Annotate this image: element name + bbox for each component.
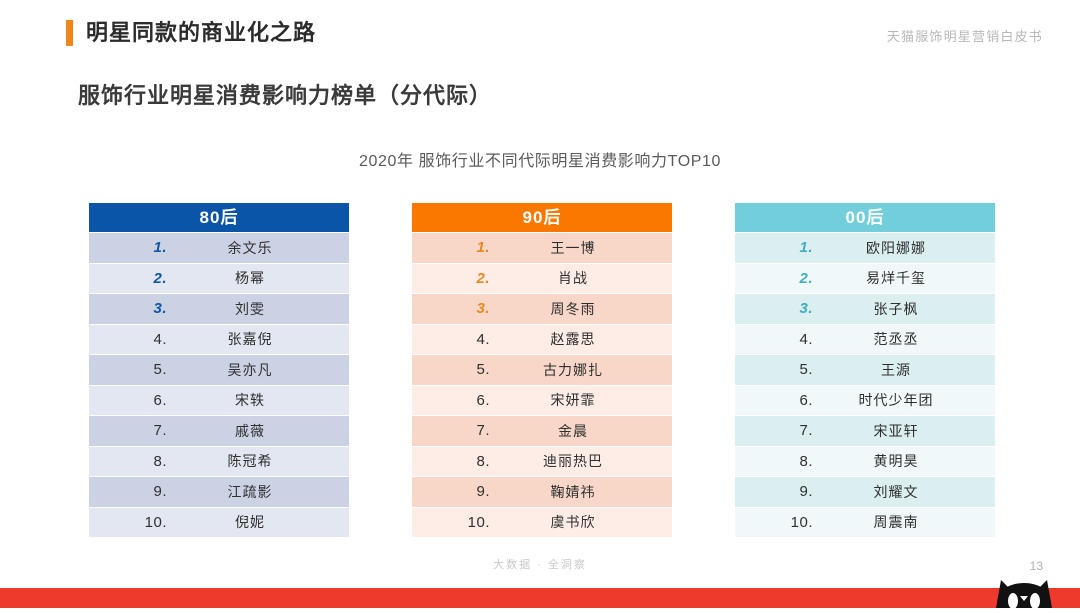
rank-number: 3.	[412, 300, 496, 317]
rank-table-header: 90后	[412, 203, 672, 232]
table-row: 3.刘雯	[89, 294, 349, 324]
rank-number: 3.	[735, 300, 819, 317]
celebrity-name: 欧阳娜娜	[819, 238, 995, 258]
rank-number: 7.	[735, 422, 819, 439]
rank-number: 4.	[735, 331, 819, 348]
table-row: 6.宋妍霏	[412, 386, 672, 416]
rank-table-header: 80后	[89, 203, 349, 232]
celebrity-name: 江疏影	[173, 482, 349, 502]
rank-number: 9.	[412, 483, 496, 500]
table-row: 2.肖战	[412, 264, 672, 294]
celebrity-name: 张子枫	[819, 299, 995, 319]
bottom-red-bar	[0, 588, 1080, 608]
table-row: 9.鞠婧祎	[412, 477, 672, 507]
rank-number: 5.	[735, 361, 819, 378]
celebrity-name: 陈冠希	[173, 451, 349, 471]
rank-number: 10.	[89, 514, 173, 531]
table-row: 9.江疏影	[89, 477, 349, 507]
celebrity-name: 余文乐	[173, 238, 349, 258]
rank-number: 5.	[412, 361, 496, 378]
celebrity-name: 王源	[819, 360, 995, 380]
tmall-cat-logo-icon	[988, 566, 1060, 608]
chart-caption: 2020年 服饰行业不同代际明星消费影响力TOP10	[0, 147, 1080, 171]
table-row: 5.吴亦凡	[89, 355, 349, 385]
rank-number: 2.	[89, 270, 173, 287]
rank-table-body: 1.王一博2.肖战3.周冬雨4.赵露思5.古力娜扎6.宋妍霏7.金晨8.迪丽热巴…	[412, 233, 672, 537]
celebrity-name: 肖战	[496, 268, 672, 288]
brand-watermark: 天猫服饰明星营销白皮书	[887, 26, 1043, 45]
table-row: 10.虞书欣	[412, 508, 672, 538]
celebrity-name: 迪丽热巴	[496, 451, 672, 471]
celebrity-name: 周冬雨	[496, 299, 672, 319]
table-row: 7.金晨	[412, 416, 672, 446]
rank-number: 10.	[412, 514, 496, 531]
table-row: 1.王一博	[412, 233, 672, 263]
rank-number: 8.	[412, 453, 496, 470]
celebrity-name: 刘雯	[173, 299, 349, 319]
rank-number: 10.	[735, 514, 819, 531]
table-row: 10.周震南	[735, 508, 995, 538]
rank-number: 2.	[412, 270, 496, 287]
celebrity-name: 易烊千玺	[819, 268, 995, 288]
rank-number: 1.	[412, 239, 496, 256]
celebrity-name: 杨幂	[173, 268, 349, 288]
rank-number: 7.	[89, 422, 173, 439]
table-row: 6.时代少年团	[735, 386, 995, 416]
celebrity-name: 宋亚轩	[819, 421, 995, 441]
rank-table-body: 1.欧阳娜娜2.易烊千玺3.张子枫4.范丞丞5.王源6.时代少年团7.宋亚轩8.…	[735, 233, 995, 537]
rank-number: 1.	[735, 239, 819, 256]
rank-number: 9.	[735, 483, 819, 500]
celebrity-name: 时代少年团	[819, 390, 995, 410]
section-subtitle: 服饰行业明星消费影响力榜单（分代际）	[78, 78, 492, 110]
table-row: 10.倪妮	[89, 508, 349, 538]
title-accent-bar-icon	[66, 20, 73, 46]
rank-number: 4.	[412, 331, 496, 348]
table-row: 3.张子枫	[735, 294, 995, 324]
rank-number: 9.	[89, 483, 173, 500]
rank-tables-container: 80后1.余文乐2.杨幂3.刘雯4.张嘉倪5.吴亦凡6.宋轶7.戚薇8.陈冠希9…	[0, 203, 1080, 538]
table-row: 9.刘耀文	[735, 477, 995, 507]
table-row: 2.易烊千玺	[735, 264, 995, 294]
celebrity-name: 倪妮	[173, 512, 349, 532]
rank-table-00后: 00后1.欧阳娜娜2.易烊千玺3.张子枫4.范丞丞5.王源6.时代少年团7.宋亚…	[735, 203, 995, 538]
celebrity-name: 戚薇	[173, 421, 349, 441]
page-title: 明星同款的商业化之路	[86, 22, 316, 44]
rank-table-body: 1.余文乐2.杨幂3.刘雯4.张嘉倪5.吴亦凡6.宋轶7.戚薇8.陈冠希9.江疏…	[89, 233, 349, 537]
table-row: 4.赵露思	[412, 325, 672, 355]
rank-number: 4.	[89, 331, 173, 348]
rank-number: 7.	[412, 422, 496, 439]
celebrity-name: 周震南	[819, 512, 995, 532]
celebrity-name: 范丞丞	[819, 329, 995, 349]
rank-table-header: 00后	[735, 203, 995, 232]
table-row: 1.欧阳娜娜	[735, 233, 995, 263]
table-row: 8.陈冠希	[89, 447, 349, 477]
table-row: 7.戚薇	[89, 416, 349, 446]
rank-number: 3.	[89, 300, 173, 317]
table-row: 5.古力娜扎	[412, 355, 672, 385]
rank-number: 8.	[735, 453, 819, 470]
celebrity-name: 吴亦凡	[173, 360, 349, 380]
table-row: 7.宋亚轩	[735, 416, 995, 446]
table-row: 8.黄明昊	[735, 447, 995, 477]
footer-note: 大数据 · 全洞察	[0, 556, 1080, 572]
table-row: 3.周冬雨	[412, 294, 672, 324]
table-row: 6.宋轶	[89, 386, 349, 416]
table-row: 4.张嘉倪	[89, 325, 349, 355]
page-title-group: 明星同款的商业化之路	[66, 20, 316, 46]
table-row: 1.余文乐	[89, 233, 349, 263]
rank-number: 1.	[89, 239, 173, 256]
rank-table-90后: 90后1.王一博2.肖战3.周冬雨4.赵露思5.古力娜扎6.宋妍霏7.金晨8.迪…	[412, 203, 672, 538]
celebrity-name: 金晨	[496, 421, 672, 441]
table-row: 2.杨幂	[89, 264, 349, 294]
table-row: 4.范丞丞	[735, 325, 995, 355]
rank-number: 6.	[735, 392, 819, 409]
celebrity-name: 刘耀文	[819, 482, 995, 502]
celebrity-name: 赵露思	[496, 329, 672, 349]
rank-number: 6.	[412, 392, 496, 409]
rank-number: 5.	[89, 361, 173, 378]
rank-table-80后: 80后1.余文乐2.杨幂3.刘雯4.张嘉倪5.吴亦凡6.宋轶7.戚薇8.陈冠希9…	[89, 203, 349, 538]
celebrity-name: 张嘉倪	[173, 329, 349, 349]
celebrity-name: 宋妍霏	[496, 390, 672, 410]
celebrity-name: 黄明昊	[819, 451, 995, 471]
celebrity-name: 鞠婧祎	[496, 482, 672, 502]
table-row: 8.迪丽热巴	[412, 447, 672, 477]
celebrity-name: 虞书欣	[496, 512, 672, 532]
rank-number: 2.	[735, 270, 819, 287]
rank-number: 6.	[89, 392, 173, 409]
rank-number: 8.	[89, 453, 173, 470]
celebrity-name: 王一博	[496, 238, 672, 258]
celebrity-name: 古力娜扎	[496, 360, 672, 380]
celebrity-name: 宋轶	[173, 390, 349, 410]
slide-header: 明星同款的商业化之路 天猫服饰明星营销白皮书	[0, 0, 1080, 62]
table-row: 5.王源	[735, 355, 995, 385]
